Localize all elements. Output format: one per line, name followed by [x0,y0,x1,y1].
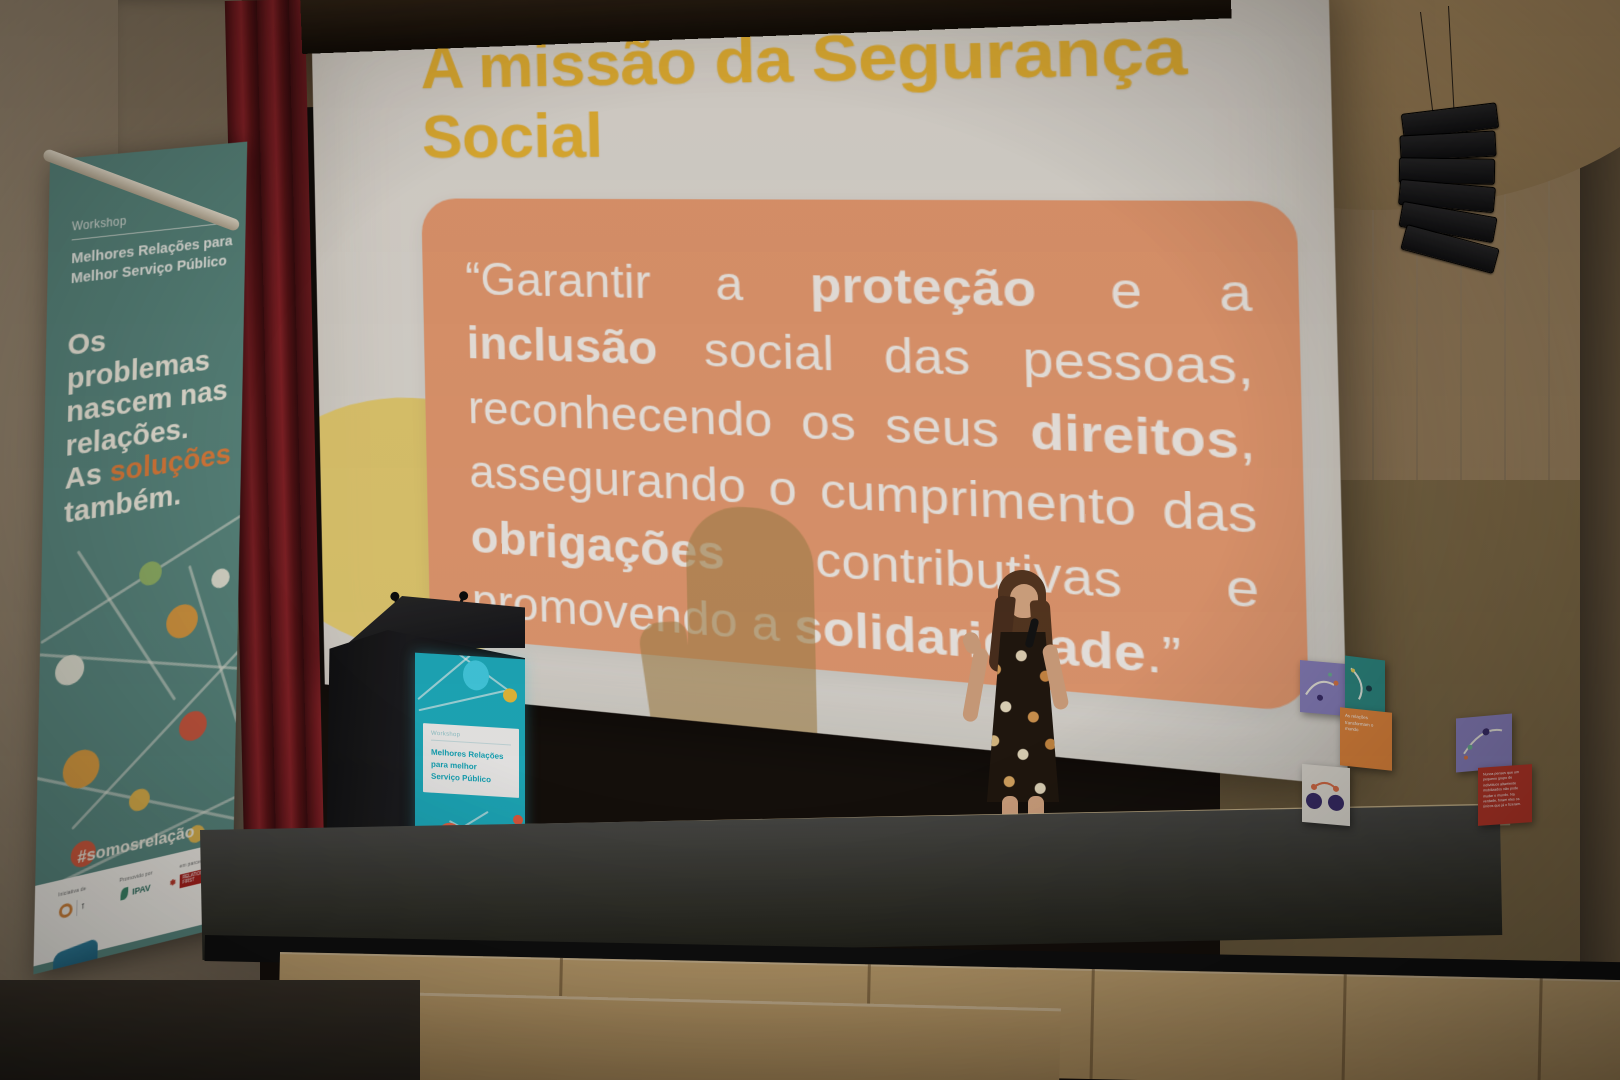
ipav-leaf-icon [121,887,129,901]
presenter-shadow [685,504,817,742]
art-cube-purple-2 [1456,714,1512,773]
podium-title-l1: Melhores Relações [431,748,503,761]
art-cube-cream [1302,764,1350,826]
presenter-arm-left [962,647,990,722]
floor-foreground [0,980,420,1080]
squiggle-icon [1345,656,1385,715]
podium-title-l3: Serviço Público [431,772,491,785]
ipav-logo-text: IPAV [132,883,151,897]
art-cube-red-text: Nunca penses que um pequeno grupo de ind… [1478,764,1532,816]
logo-divider [76,900,77,916]
art-cube-orange: As relações transformam o mundo [1340,707,1392,770]
line-array-speaker [1398,108,1508,283]
banner-headline: Os problemas nascem nas relações. As sol… [64,308,239,531]
art-cube-teal [1345,656,1385,715]
ring-logo-icon [59,902,73,919]
podium-title-l2: para melhor [431,760,477,772]
podium-slide-card: Workshop Melhores Relações para melhor S… [423,723,519,798]
red-mark-logo-icon: ✽ [170,878,176,888]
slide-quote-card: “Garantir a proteção e a inclusão social… [421,198,1309,712]
podium-title: Melhores Relações para melhor Serviço Pú… [431,747,511,788]
art-cube-red: Nunca penses que um pequeno grupo de ind… [1478,764,1532,826]
squiggle-icon [1456,714,1512,773]
auditorium-scene: A missão da Segurança Social “Garantir a… [0,0,1620,1080]
stage-floor [200,805,1502,960]
wood-paneling-row-front [379,992,1061,1080]
slide-quote-text: “Garantir a proteção e a inclusão social… [465,248,1262,702]
sponsor-group-promoter: Promovido por IPAV [106,868,165,943]
institute-logo-icon: ⊺ [81,897,85,916]
art-cube-orange-text: As relações transformam o mundo [1340,707,1392,742]
dumbbell-icon [1302,764,1350,826]
